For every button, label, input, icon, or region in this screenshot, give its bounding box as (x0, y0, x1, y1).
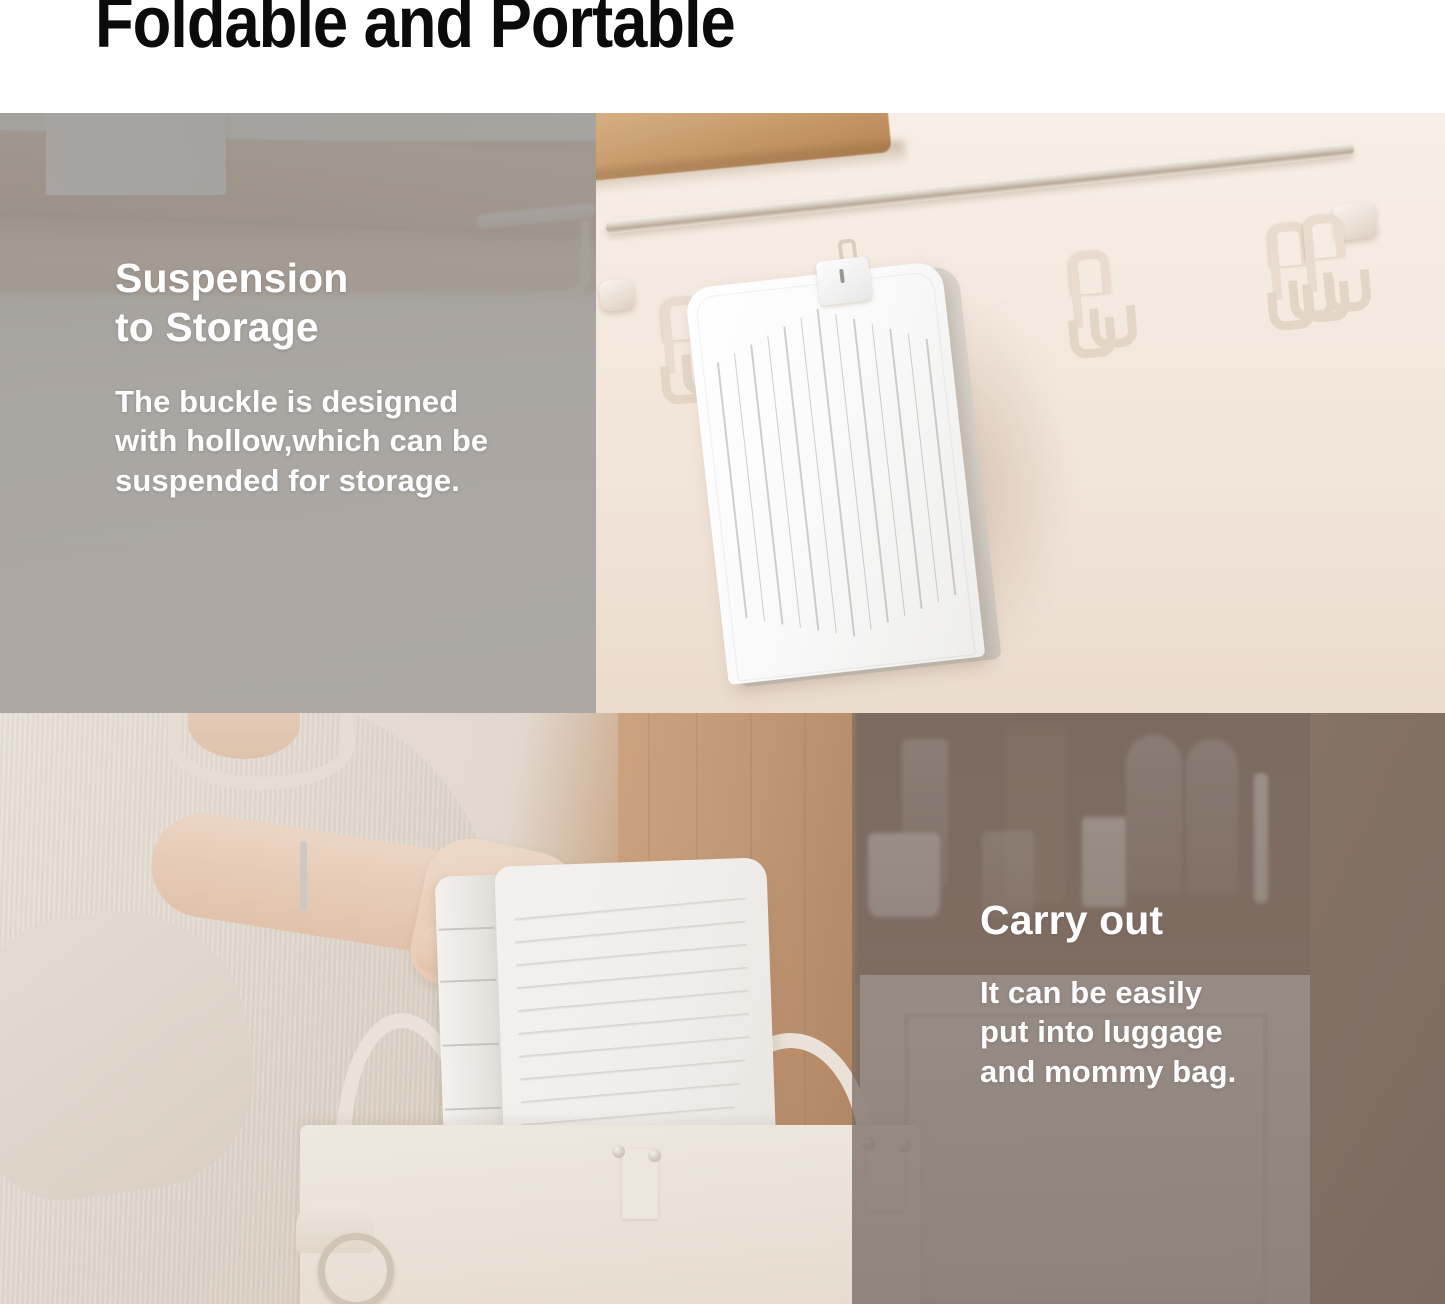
suspension-heading: Suspension to Storage (115, 254, 585, 352)
tote-tab-right (868, 1141, 904, 1211)
tote-o-ring (318, 1233, 394, 1304)
tote-rivet-1 (612, 1145, 625, 1158)
rail-hooks-photo (596, 113, 1445, 713)
product-feature-image: Foldable and Portable (0, 0, 1445, 1304)
suspension-body: The buckle is designed with hollow,which… (115, 382, 585, 501)
carry-out-heading: Carry out (980, 896, 1380, 945)
copy-block-carry-out: Carry out It can be easily put into lugg… (980, 896, 1380, 1092)
panel-hanging-board-photo (596, 113, 1445, 713)
tote-rivet-4 (898, 1139, 911, 1152)
header-band: Foldable and Portable (0, 0, 1445, 113)
hanging-folded-board (685, 259, 1000, 687)
tote-rivet-2 (648, 1149, 661, 1162)
copy-block-suspension: Suspension to Storage The buckle is desi… (115, 254, 585, 501)
rail-end-left (599, 278, 636, 311)
board-front-leaf (685, 261, 986, 685)
tote-rivet-3 (862, 1137, 875, 1150)
board-handle-slot (300, 841, 307, 911)
page-title: Foldable and Portable (95, 0, 735, 59)
carry-out-body: It can be easily put into luggage and mo… (980, 973, 1380, 1092)
